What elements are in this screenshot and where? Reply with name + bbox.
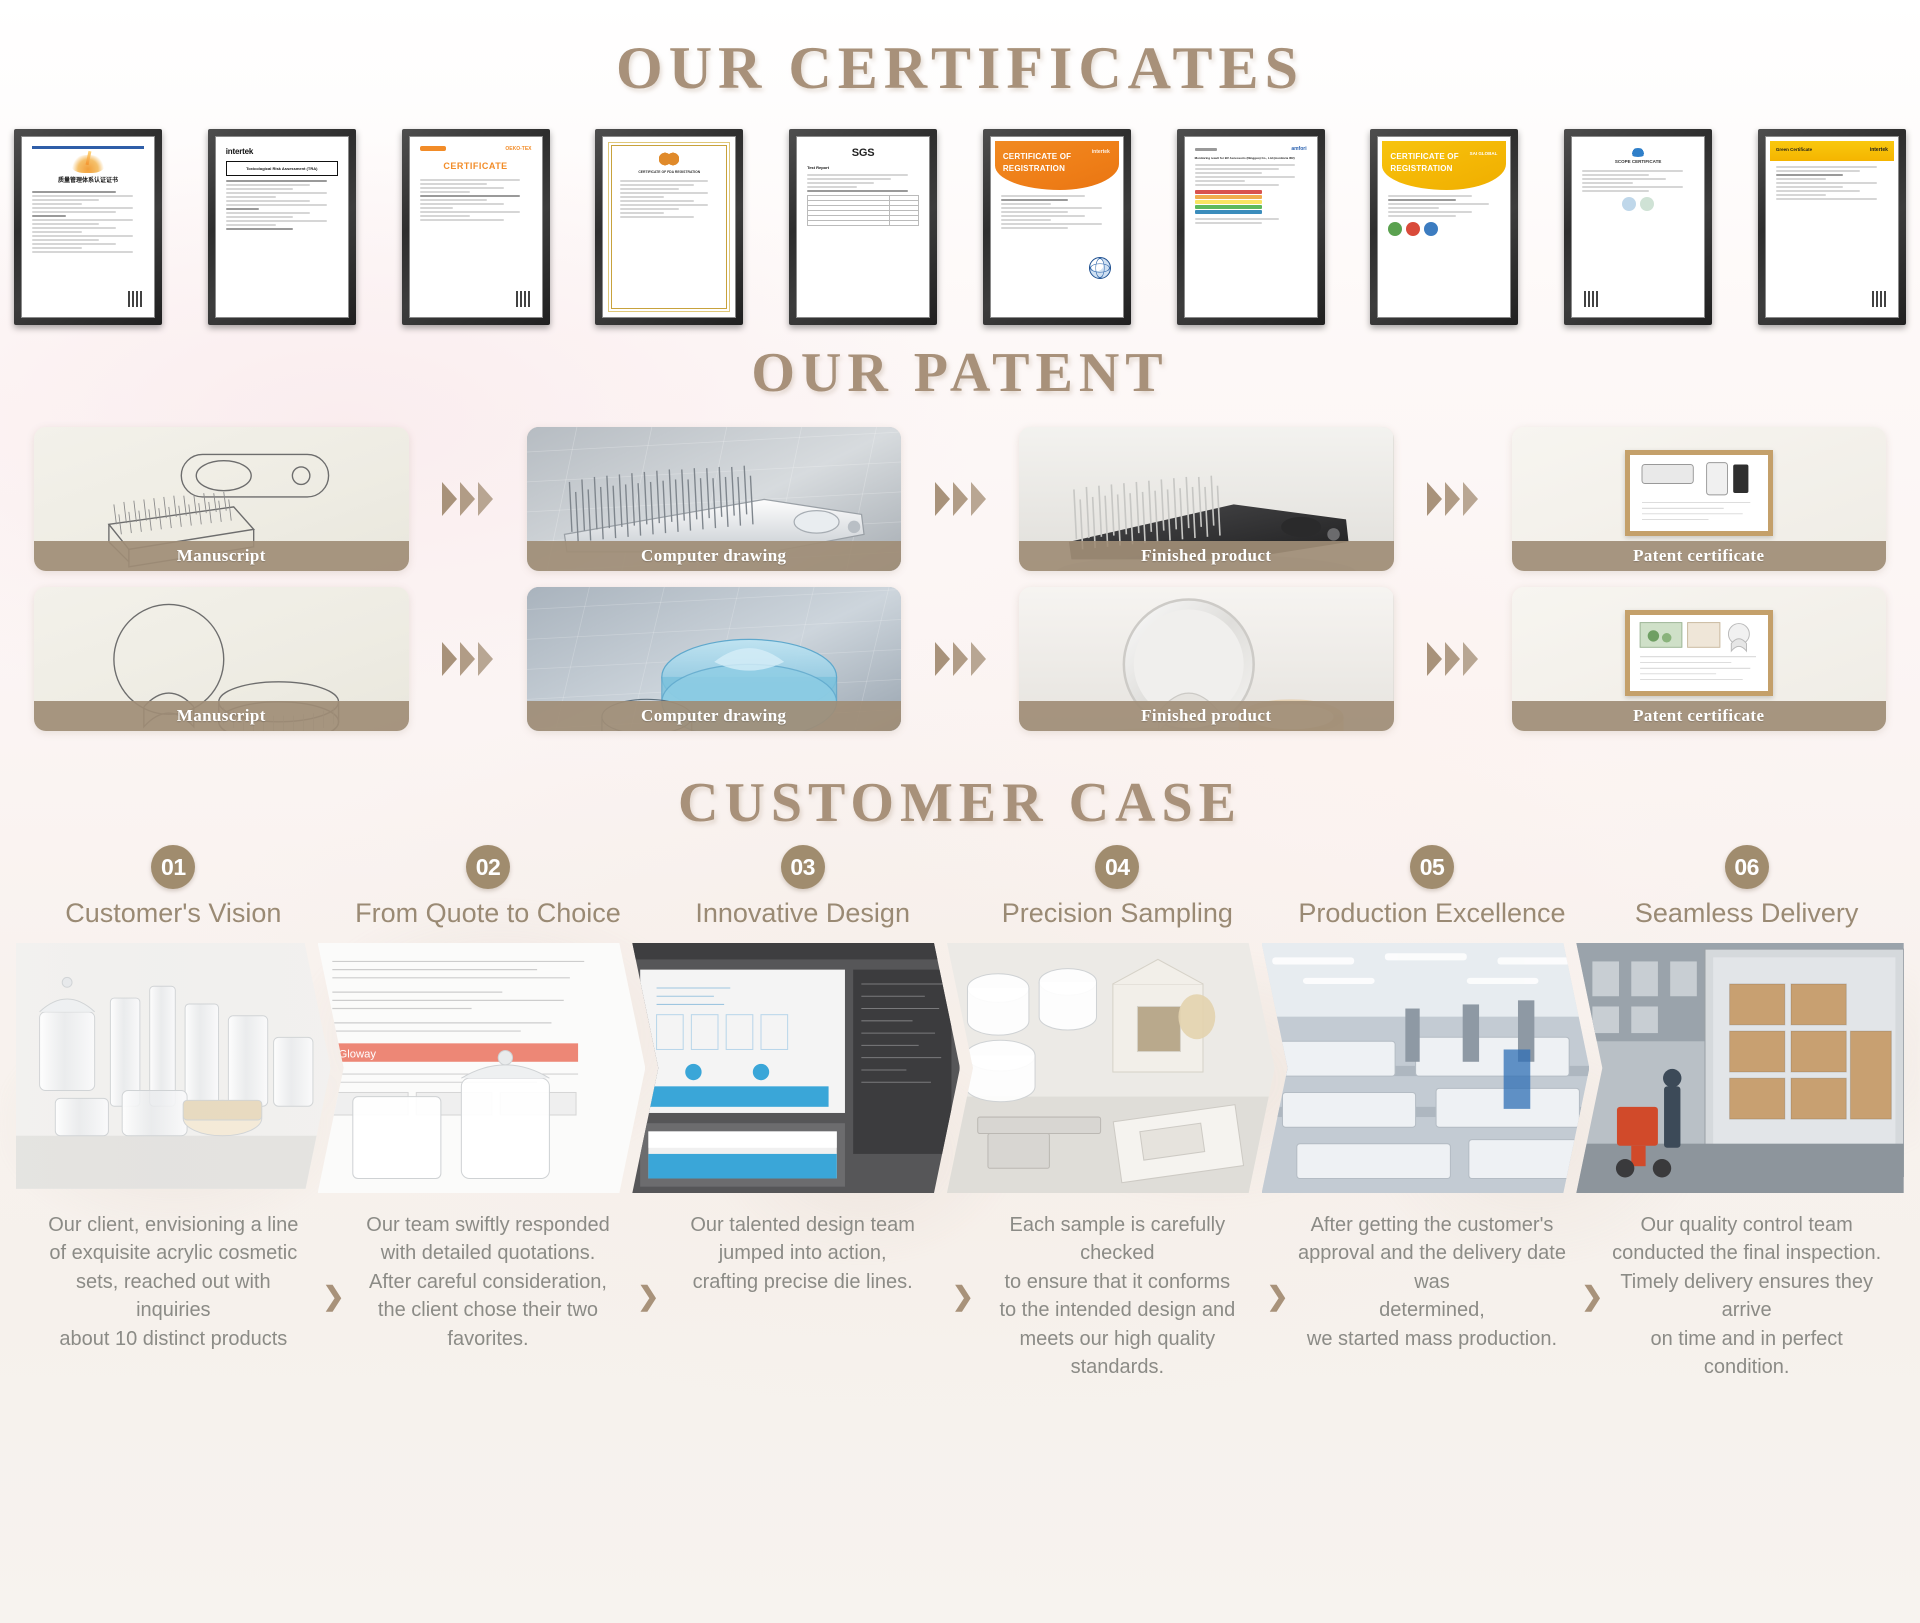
chevron-right-icon — [971, 482, 986, 516]
case-step-02[interactable]: 02 From Quote to Choice — [331, 845, 646, 935]
certificate-headline: 质量管理体系认证证书 — [32, 177, 144, 186]
step-title: From Quote to Choice — [355, 898, 621, 929]
patent-stage-manuscript[interactable]: Manuscript — [34, 587, 409, 731]
certificate-paper: SGS Test Report — [801, 141, 925, 313]
case-photo-strip: Gloway — [16, 943, 1904, 1193]
case-step-06[interactable]: 06 Seamless Delivery — [1589, 845, 1904, 935]
chevron-right-icon: ❯ — [952, 1283, 974, 1309]
certificate-mat: CERTIFICATE OF REGISTRATION SAI GLOBAL — [1377, 136, 1511, 318]
step-number-badge: 01 — [151, 845, 195, 889]
certificate-top-band — [32, 146, 144, 149]
case-step-headers: 01 Customer's Vision 02 From Quote to Ch… — [16, 845, 1904, 935]
page-title-patent: OUR PATENT — [0, 325, 1920, 405]
patent-stage-label: Computer drawing — [527, 701, 902, 731]
certificate-paper: CERTIFICATE OF REGISTRATION intertek — [995, 141, 1119, 313]
qr-code-icon — [1584, 291, 1600, 307]
certificate-mat: amfori Monitoring result for BV Accessor… — [1184, 136, 1318, 318]
certificate-mat: OEKO-TEX CERTIFICATE — [409, 136, 543, 318]
certificate-paper: OEKO-TEX CERTIFICATE — [414, 141, 538, 313]
chevron-right-icon — [1445, 642, 1460, 676]
step-number-badge: 05 — [1410, 845, 1454, 889]
chevron-right-icon — [935, 482, 950, 516]
certificate-paper: intertek Toxicological Risk Assessment (… — [220, 141, 344, 313]
certificate-brand: OEKO-TEX — [505, 146, 531, 153]
step-number-badge: 06 — [1725, 845, 1769, 889]
certificate-paper: CERTIFICATE OF FDA REGISTRATION — [607, 141, 731, 313]
case-description-02: ❯ Our team swiftly responded with detail… — [331, 1211, 646, 1381]
certificate-hero-banner: CERTIFICATE OF REGISTRATION SAI GLOBAL — [1382, 141, 1506, 190]
case-descriptions: ❯ Our client, envisioning a line of exqu… — [16, 1211, 1904, 1381]
case-description-06: ❯ Our quality control team conducted the… — [1589, 1211, 1904, 1381]
certificate-mat: intertek Toxicological Risk Assessment (… — [215, 136, 349, 318]
chevron-right-icon — [971, 642, 986, 676]
patent-stage-manuscript[interactable]: Manuscript — [34, 427, 409, 571]
case-description-text: After getting the customer's approval an… — [1298, 1214, 1566, 1350]
chevron-right-icon: ❯ — [1581, 1283, 1603, 1309]
chevron-right-icon — [478, 482, 493, 516]
certificate-oeko-tex[interactable]: OEKO-TEX CERTIFICATE — [402, 129, 550, 325]
case-description-text: Our client, envisioning a line of exquis… — [48, 1214, 298, 1350]
production-line-photo — [1262, 943, 1590, 1193]
page-title-certificates: OUR CERTIFICATES — [0, 0, 1920, 103]
certificate-paper: CERTIFICATE OF REGISTRATION SAI GLOBAL — [1382, 141, 1506, 313]
certificate-sgs-test-report[interactable]: SGS Test Report — [789, 129, 937, 325]
certificate-brand: SGS — [807, 146, 919, 162]
patent-grid: Manuscript — [0, 405, 1920, 731]
quotation-document-photo: Gloway — [318, 943, 646, 1193]
chevron-right-icon — [1463, 642, 1478, 676]
chevron-right-icon — [1427, 642, 1442, 676]
certificate-paper: SCOPE CERTIFICATE — [1576, 141, 1700, 313]
chevron-right-icon — [442, 482, 457, 516]
case-description-text: Our quality control team conducted the f… — [1612, 1214, 1881, 1378]
case-description-05: ❯ After getting the customer's approval … — [1275, 1211, 1590, 1381]
case-description-text: Our team swiftly responded with detailed… — [366, 1214, 609, 1350]
certificate-mat: Green Certificate intertek — [1765, 136, 1899, 318]
patent-arrow-3 — [1394, 482, 1512, 516]
certificate-intertek-tra[interactable]: intertek Toxicological Risk Assessment (… — [208, 129, 356, 325]
patent-stage-label: Manuscript — [34, 541, 409, 571]
certificate-mat: CERTIFICATE OF FDA REGISTRATION — [602, 136, 736, 318]
certificate-headline: Green Certificate — [1776, 147, 1812, 154]
framed-patent-drawing — [1625, 610, 1773, 696]
case-step-03[interactable]: 03 Innovative Design — [645, 845, 960, 935]
step-title: Customer's Vision — [65, 898, 281, 929]
qr-code-icon — [516, 291, 532, 307]
certificate-result-table — [807, 195, 919, 226]
certificate-headline: Toxicological Risk Assessment (TRA) — [226, 161, 338, 177]
chevron-right-icon — [953, 482, 968, 516]
case-photo-customers-vision[interactable] — [16, 943, 331, 1193]
patent-row-hair-brush: Manuscript — [34, 427, 1886, 571]
patent-row-round-mirror: Manuscript — [34, 587, 1886, 731]
certificate-hero-banner: CERTIFICATE OF REGISTRATION intertek — [995, 141, 1119, 190]
step-number-badge: 03 — [781, 845, 825, 889]
page-title-customer-case: CUSTOMER CASE — [0, 747, 1920, 835]
acrylic-cosmetic-jars-photo — [16, 943, 331, 1189]
case-photo-innovative-design[interactable] — [632, 943, 960, 1193]
certificate-headline: Monitoring result for BV Accessoris (Nin… — [1195, 156, 1307, 160]
step-title: Production Excellence — [1298, 898, 1565, 929]
qr-code-icon — [1872, 291, 1888, 307]
patent-stage-label: Finished product — [1019, 541, 1394, 571]
certificate-fda-registration[interactable]: CERTIFICATE OF FDA REGISTRATION — [595, 129, 743, 325]
case-description-01: ❯ Our client, envisioning a line of exqu… — [16, 1211, 331, 1381]
certificate-headline: Test Report — [807, 165, 919, 171]
step-number-badge: 04 — [1095, 845, 1139, 889]
certificate-brand: intertek — [226, 146, 338, 158]
control-union-logo-icon — [1629, 148, 1647, 157]
patent-stage-finished-product[interactable]: Finished product — [1019, 427, 1394, 571]
step-title: Seamless Delivery — [1635, 898, 1859, 929]
case-description-03: ❯ Our talented design team jumped into a… — [645, 1211, 960, 1381]
customer-case-section: 01 Customer's Vision 02 From Quote to Ch… — [0, 835, 1920, 1381]
certificate-sai-global-registration[interactable]: CERTIFICATE OF REGISTRATION SAI GLOBAL — [1370, 129, 1518, 325]
patent-drawing-sheet — [1630, 615, 1768, 691]
certificate-mat: SCOPE CERTIFICATE — [1571, 136, 1705, 318]
patent-stage-patent-certificate[interactable]: Patent certificate — [1512, 587, 1887, 731]
case-step-01[interactable]: 01 Customer's Vision — [16, 845, 331, 935]
certificate-brand: SAI GLOBAL — [1470, 151, 1498, 158]
certificate-brand: intertek — [1870, 147, 1888, 154]
chevron-right-icon: ❯ — [637, 1283, 659, 1309]
patent-stage-label: Patent certificate — [1512, 701, 1887, 731]
patent-arrow-2 — [901, 482, 1019, 516]
patent-arrow-5 — [901, 642, 1019, 676]
chevron-right-icon — [935, 642, 950, 676]
patent-stage-label: Patent certificate — [1512, 541, 1887, 571]
case-photo-precision-sampling[interactable] — [947, 943, 1275, 1193]
svg-text:Gloway: Gloway — [338, 1049, 376, 1061]
case-description-04: ❯ Each sample is carefully checked to en… — [960, 1211, 1275, 1381]
chevron-right-icon — [1463, 482, 1478, 516]
certificate-mat: 质量管理体系认证证书 — [21, 136, 155, 318]
page-root: OUR CERTIFICATES 质量管理体系认证证书 — [0, 0, 1920, 1381]
chevron-right-icon — [953, 642, 968, 676]
chevron-right-icon — [460, 642, 475, 676]
step-number-badge: 02 — [466, 845, 510, 889]
certificate-headline: CERTIFICATE — [420, 160, 532, 173]
case-step-05[interactable]: 05 Production Excellence — [1275, 845, 1590, 935]
patent-stage-computer-drawing[interactable]: Computer drawing — [527, 587, 902, 731]
patent-stage-patent-certificate[interactable]: Patent certificate — [1512, 427, 1887, 571]
step-title: Precision Sampling — [1002, 898, 1233, 929]
certificate-intertek-green[interactable]: Green Certificate intertek — [1758, 129, 1906, 325]
chevron-right-icon: ❯ — [1267, 1283, 1289, 1309]
chevron-right-icon — [1445, 482, 1460, 516]
qr-code-icon — [128, 291, 144, 307]
case-description-text: Our talented design team jumped into act… — [690, 1214, 915, 1293]
certificate-paper: amfori Monitoring result for BV Accessor… — [1189, 141, 1313, 313]
framed-patent-drawing — [1625, 450, 1773, 536]
patent-stage-label: Computer drawing — [527, 541, 902, 571]
case-step-04[interactable]: 04 Precision Sampling — [960, 845, 1275, 935]
patent-stage-label: Manuscript — [34, 701, 409, 731]
step-title: Innovative Design — [695, 898, 910, 929]
sample-inspection-photo — [947, 943, 1275, 1193]
certificate-quality-management-system[interactable]: 质量管理体系认证证书 — [14, 129, 162, 325]
globe-icon — [1089, 257, 1111, 279]
certificate-brand: amfori — [1291, 146, 1306, 153]
certificates-strip: 质量管理体系认证证书 — [0, 103, 1920, 325]
certificate-paper: Green Certificate intertek — [1770, 141, 1894, 313]
chevron-right-icon — [460, 482, 475, 516]
rating-color-bars — [1195, 190, 1307, 214]
case-photo-production-excellence[interactable] — [1262, 943, 1590, 1193]
case-photo-quote-to-choice[interactable]: Gloway — [318, 943, 646, 1193]
certificate-paper: 质量管理体系认证证书 — [26, 141, 150, 313]
certificate-amfori-bsci[interactable]: amfori Monitoring result for BV Accessor… — [1177, 129, 1325, 325]
patent-stage-computer-drawing[interactable]: Computer drawing — [527, 427, 902, 571]
patent-drawing-sheet — [1630, 455, 1768, 531]
patent-arrow-4 — [409, 642, 527, 676]
butterfly-icon — [659, 152, 679, 166]
patent-stage-label: Finished product — [1019, 701, 1394, 731]
certificate-headline: CERTIFICATE OF FDA REGISTRATION — [613, 170, 725, 175]
container-loading-photo — [1576, 943, 1904, 1193]
certificate-mat: SGS Test Report — [796, 136, 930, 318]
accreditation-seals — [1388, 222, 1500, 236]
cn-emblem-icon — [71, 155, 105, 173]
case-description-text: Each sample is carefully checked to ensu… — [999, 1214, 1235, 1378]
certificate-scope[interactable]: SCOPE CERTIFICATE — [1564, 129, 1712, 325]
case-photo-seamless-delivery[interactable] — [1576, 943, 1904, 1193]
certificate-intertek-registration[interactable]: CERTIFICATE OF REGISTRATION intertek — [983, 129, 1131, 325]
chevron-right-icon: ❯ — [323, 1283, 345, 1309]
patent-arrow-6 — [1394, 642, 1512, 676]
patent-arrow-1 — [409, 482, 527, 516]
patent-stage-finished-product[interactable]: Finished product — [1019, 587, 1394, 731]
cad-design-software-photo — [632, 943, 960, 1193]
certificate-headline: SCOPE CERTIFICATE — [1615, 159, 1661, 164]
certificate-brand: intertek — [1092, 149, 1110, 156]
certificate-mat: CERTIFICATE OF REGISTRATION intertek — [990, 136, 1124, 318]
chevron-right-icon — [442, 642, 457, 676]
chevron-right-icon — [1427, 482, 1442, 516]
chevron-right-icon — [478, 642, 493, 676]
